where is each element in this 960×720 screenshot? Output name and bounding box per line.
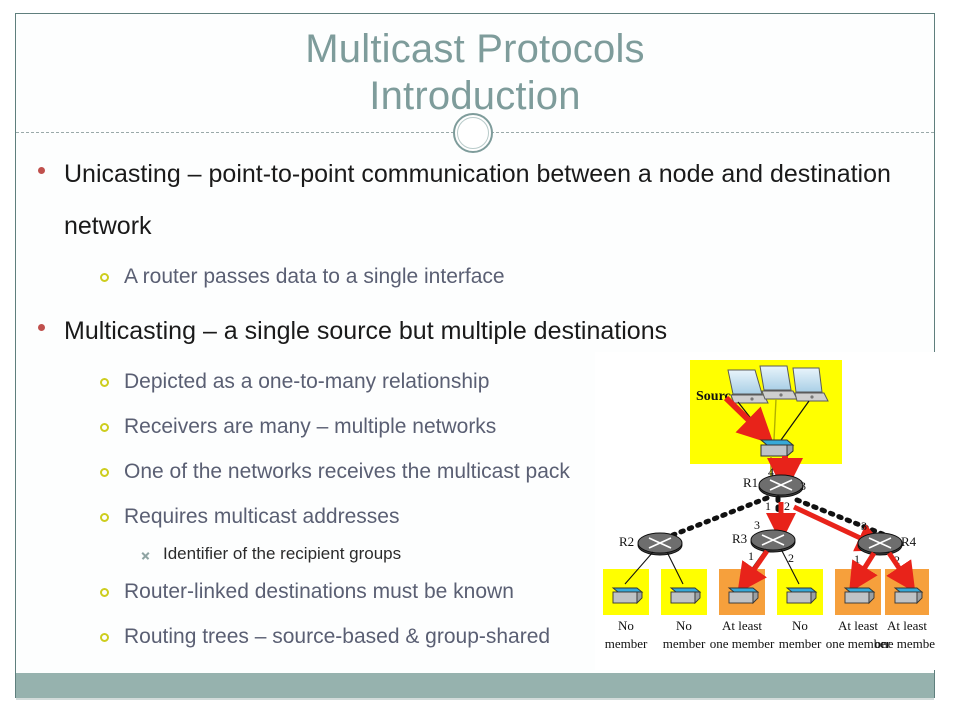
host-5 xyxy=(845,588,874,603)
r1-port-2: 2 xyxy=(784,499,790,513)
host-6 xyxy=(895,588,922,603)
network-caption-1-line2: member xyxy=(605,636,648,651)
bullet-ring-icon xyxy=(100,614,124,647)
bullet-ring-icon xyxy=(100,449,124,482)
bullet-level1: Multicasting – a single source but multi… xyxy=(24,305,929,357)
host-3 xyxy=(729,588,758,603)
network-caption-1-line1: No xyxy=(618,618,634,633)
network-caption-4-line2: member xyxy=(779,636,822,651)
router-r4 xyxy=(858,533,902,555)
host-2 xyxy=(671,588,700,603)
network-caption-2-line2: member xyxy=(663,636,706,651)
slide: Multicast Protocols Introduction Unicast… xyxy=(0,0,960,720)
network-caption-3-line1: At least xyxy=(722,618,762,633)
r1-port-4: 4 xyxy=(768,465,774,479)
bullet-level1: Unicasting – point-to-point communicatio… xyxy=(24,148,929,252)
bullet-cross-icon xyxy=(141,539,163,565)
footer-shadow xyxy=(16,698,934,700)
bullet-level2: A router passes data to a single interfa… xyxy=(24,254,929,299)
network-caption-3-line2: one member xyxy=(710,636,775,651)
footer-bar xyxy=(16,673,934,698)
router-r1-label: R1 xyxy=(743,475,758,490)
network-caption-5-line1: At least xyxy=(838,618,878,633)
r1-port-3: 3 xyxy=(800,479,806,493)
r4-port-3: 3 xyxy=(861,519,867,533)
bullet-text: Multicasting – a single source but multi… xyxy=(64,305,904,357)
host-1 xyxy=(613,588,642,603)
bullet-ring-icon xyxy=(100,569,124,602)
bullet-ring-icon xyxy=(100,404,124,437)
title-ring-decoration xyxy=(453,113,493,153)
multicast-network-diagram: Source xyxy=(595,352,935,670)
bullet-ring-icon xyxy=(100,494,124,527)
bullet-ring-icon xyxy=(100,359,124,392)
bullet-ring-icon xyxy=(100,254,124,287)
host-4 xyxy=(787,588,816,603)
router-r3 xyxy=(751,530,795,552)
r3-port-2: 2 xyxy=(788,551,794,565)
router-r4-label: R4 xyxy=(901,534,917,549)
r3-port-3: 3 xyxy=(754,518,760,532)
router-r2-label: R2 xyxy=(619,534,634,549)
r1-r2-link xyxy=(673,498,767,535)
router-r3-label: R3 xyxy=(732,531,747,546)
r4-port-1: 1 xyxy=(854,552,860,566)
router-r2 xyxy=(638,533,682,555)
bullet-text: A router passes data to a single interfa… xyxy=(124,254,929,299)
router-r1 xyxy=(759,475,803,497)
r3-port-1: 1 xyxy=(748,549,754,563)
network-caption-4-line1: No xyxy=(792,618,808,633)
network-caption-6-line1: At least xyxy=(887,618,927,633)
bullet-dot-icon xyxy=(38,148,64,179)
bullet-dot-icon xyxy=(38,305,64,336)
network-caption-2-line1: No xyxy=(676,618,692,633)
bullet-text: Unicasting – point-to-point communicatio… xyxy=(64,148,904,252)
page-title-line-1: Multicast Protocols xyxy=(16,14,934,73)
network-caption-6-line2: one member xyxy=(875,636,935,651)
source-switch xyxy=(761,440,793,456)
